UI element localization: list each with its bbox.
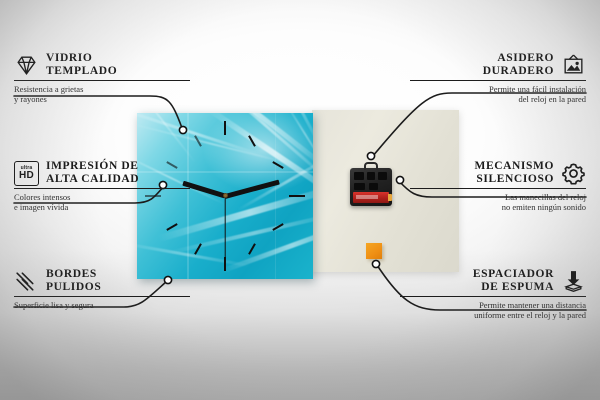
- feature-divider: [14, 80, 190, 81]
- feature-bordes-pulidos: BORDES PULIDOS Superficie lisa y segura: [14, 268, 190, 310]
- feature-asidero-duradero: ASIDERO DURADERO Permite una fácil insta…: [410, 52, 586, 104]
- feature-title-line2: SILENCIOSO: [474, 173, 554, 186]
- ultra-hd-bottom-text: HD: [19, 171, 34, 181]
- feature-desc-line1: Permite mantener una distancia: [400, 300, 586, 310]
- diamond-icon: [14, 53, 39, 78]
- clock-center-cap: [223, 193, 228, 198]
- feather-streak: [221, 217, 313, 273]
- feature-divider: [400, 296, 586, 297]
- feature-desc-line1: Las manecillas del reloj: [410, 192, 586, 202]
- feature-espaciador-de-espuma: ESPACIADOR DE ESPUMA Permite mantener un…: [400, 268, 586, 320]
- clock-mechanism: [350, 168, 392, 206]
- feature-title-line2: ALTA CALIDAD: [46, 173, 139, 186]
- feature-title-line1: BORDES: [46, 268, 101, 281]
- gear-icon: [561, 161, 586, 186]
- second-hand: [224, 196, 225, 258]
- hour-tick-5: [248, 243, 256, 254]
- battery: [353, 192, 389, 203]
- feature-desc-line2: uniforme entre el reloj y la pared: [400, 310, 586, 320]
- feature-title-line1: ASIDERO: [483, 52, 554, 65]
- feature-desc-line1: Superficie lisa y segura: [14, 300, 190, 310]
- hour-tick-12: [224, 121, 226, 135]
- feature-desc-line2: no emiten ningún sonido: [410, 202, 586, 212]
- picture-frame-icon: [561, 53, 586, 78]
- arrow-down-pad-icon: [561, 269, 586, 294]
- ultra-hd-icon: ultra HD: [14, 161, 39, 186]
- hour-tick-6: [224, 257, 226, 271]
- feature-title-line2: DE ESPUMA: [473, 281, 554, 294]
- battery-label: [356, 195, 378, 199]
- mechanism-slot: [354, 172, 364, 180]
- feature-title-line2: PULIDOS: [46, 281, 101, 294]
- feature-mecanismo-silencioso: MECANISMO SILENCIOSO Las manecillas del …: [410, 160, 586, 212]
- mechanism-slot: [354, 183, 365, 190]
- feature-desc-line2: y rayones: [14, 94, 190, 104]
- feature-desc-line2: e imagen vívida: [14, 202, 190, 212]
- feature-desc-line1: Colores intensos: [14, 192, 190, 202]
- feature-title-line1: MECANISMO: [474, 160, 554, 173]
- feature-title-line2: TEMPLADO: [46, 65, 117, 78]
- feature-desc-line1: Resistencia a grietas: [14, 84, 190, 94]
- feature-divider: [14, 188, 190, 189]
- feature-title-line1: IMPRESIÓN DE: [46, 160, 139, 173]
- feature-vidrio-templado: VIDRIO TEMPLADO Resistencia a grietas y …: [14, 52, 190, 104]
- mechanism-hook-icon: [364, 162, 378, 170]
- feature-divider: [14, 296, 190, 297]
- feature-title-line1: VIDRIO: [46, 52, 117, 65]
- mechanism-slot: [367, 172, 375, 180]
- mechanism-slot: [378, 172, 387, 180]
- battery-positive-tip: [388, 194, 392, 201]
- feature-desc-line2: del reloj en la pared: [410, 94, 586, 104]
- diagonal-lines-icon: [14, 269, 39, 294]
- hour-tick-3: [289, 195, 305, 197]
- feature-title-line2: DURADERO: [483, 65, 554, 78]
- infographic-canvas: VIDRIO TEMPLADO Resistencia a grietas y …: [0, 0, 600, 400]
- feature-divider: [410, 80, 586, 81]
- panel-gridline: [275, 113, 276, 279]
- mechanism-slot: [369, 183, 378, 190]
- feature-desc-line1: Permite una fácil instalación: [410, 84, 586, 94]
- feature-title-line1: ESPACIADOR: [473, 268, 554, 281]
- foam-spacer: [366, 243, 382, 259]
- feature-divider: [410, 188, 586, 189]
- feature-impresion-alta-calidad: ultra HD IMPRESIÓN DE ALTA CALIDAD Color…: [14, 160, 190, 212]
